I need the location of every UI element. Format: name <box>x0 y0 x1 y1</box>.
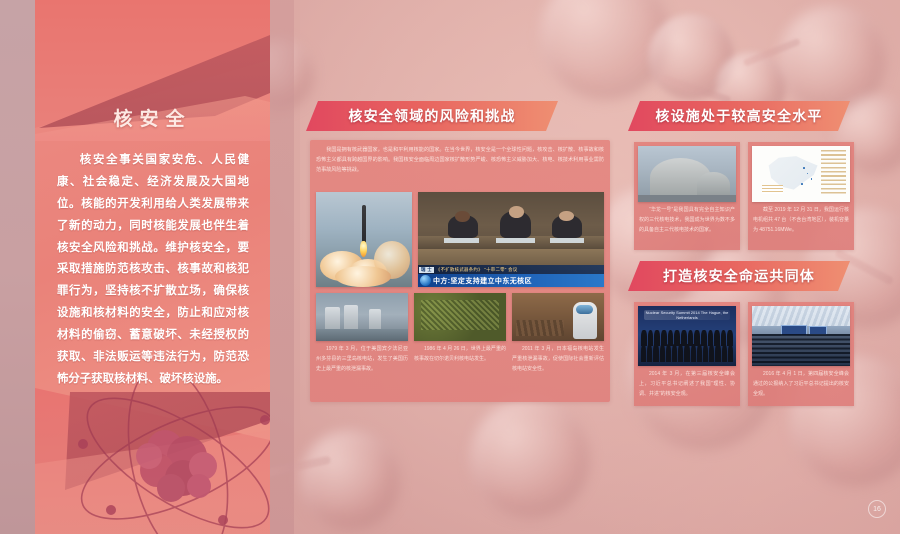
chernobyl-photo <box>414 293 506 341</box>
fukushima-photo <box>512 293 604 341</box>
nuclear-security-summit-2014-photo: Nuclear Security Summit 2014 The Hague, … <box>638 306 736 366</box>
nuclear-map-card: 截至 2019 年 12 月 31 日，我国运行核电机组共 47 台（不含台湾地… <box>748 142 854 250</box>
water <box>316 329 408 341</box>
audience-seats <box>752 334 850 366</box>
foliage <box>421 300 498 331</box>
map-legend-box <box>762 185 784 194</box>
globe-icon <box>420 275 431 286</box>
fukushima-caption: 2011 年 3 月，日本福岛核电站发生严重核泄漏事故，促使国际社会重新评估核电… <box>512 345 604 374</box>
intro-panel: 核安全 核安全事关国家安危、人民健康、社会稳定、经济发展及大国地位。核能的开发利… <box>35 0 270 534</box>
delegate-head <box>509 206 524 217</box>
tv-location-tag: 瑞 士 <box>419 267 434 273</box>
exhaust-plume <box>335 266 391 287</box>
hualong-one-card: “华龙一号”是我国具有完全自主知识产权的三代核电技术，我国成为世界为数不多的具备… <box>634 142 740 250</box>
leaders-row <box>641 330 733 346</box>
summit-2016-card: 2016 年 4 月 1 日，第四届核安全峰会通过的公报纳入了习近平总书记提出的… <box>748 302 854 406</box>
right-bottom-header-label: 打造核安全命运共同体 <box>663 266 815 286</box>
hualong-one-caption: “华龙一号”是我国具有完全自主知识产权的三代核电技术，我国成为世界为数不多的具备… <box>639 206 735 235</box>
missile-launch-photo <box>316 192 412 287</box>
right-top-header-label: 核设施处于较高安全水平 <box>655 106 822 126</box>
respirator-visor <box>576 305 593 315</box>
panel-divider <box>270 0 294 534</box>
rubble <box>516 320 564 336</box>
atom-nucleus-icon <box>53 378 270 534</box>
tv-headline-text: 中方:坚定支持建立中东无核区 <box>433 276 532 286</box>
summit-banner: Nuclear Security Summit 2014 The Hague, … <box>644 310 730 320</box>
summit-2014-card: Nuclear Security Summit 2014 The Hague, … <box>634 302 740 406</box>
center-section-header: 核安全领域的风险和挑战 <box>306 101 558 131</box>
tv-headline-bar: 中方:坚定支持建立中东无核区 <box>418 274 604 287</box>
nuclear-map-caption: 截至 2019 年 12 月 31 日，我国运行核电机组共 47 台（不含台湾地… <box>753 206 849 235</box>
leaders-row <box>641 344 733 362</box>
right-bottom-section-header: 打造核安全命运共同体 <box>628 261 850 291</box>
hazmat-worker <box>573 302 597 339</box>
npt-conference-photo: 瑞 士 《不扩散核武器条约》 “十审二零” 会议 中方:坚定支持建立中东无核区 <box>418 192 604 287</box>
cooling-tower <box>325 307 340 329</box>
map-legend-list <box>821 150 846 195</box>
tv-subtitle-text: 《不扩散核武器条约》 “十审二零” 会议 <box>436 267 518 273</box>
cooling-tower <box>344 305 359 329</box>
nuclear-security-summit-2016-photo <box>752 306 850 366</box>
page-number-badge: 16 <box>868 500 886 518</box>
name-plate <box>444 238 479 244</box>
hall-ceiling <box>752 306 850 326</box>
summit-2016-caption: 2016 年 4 月 1 日，第四届核安全峰会通过的公报纳入了习近平总书记提出的… <box>753 370 849 399</box>
summit-2014-caption: 2014 年 3 月，在第三届核安全峰会上，习近平总书记阐述了我国“理性、协调、… <box>639 370 735 399</box>
missile-body <box>362 205 366 243</box>
page-title: 核安全 <box>35 104 270 131</box>
three-mile-island-caption: 1979 年 3 月，位于美国宾夕法尼亚州多芬县的三里岛核电站，发生了美国历史上… <box>316 345 408 374</box>
chernobyl-caption: 1986 年 4 月 26 日，世界上最严重的核事故在切尔诺贝利核电站发生。 <box>414 345 506 365</box>
three-mile-island-photo <box>316 293 408 341</box>
plant-marker <box>803 167 805 169</box>
molecule-bubble <box>470 398 590 518</box>
nuclear-plant-photo <box>638 146 736 202</box>
intro-paragraph: 核安全事关国家安危、人民健康、社会稳定、经济发展及大国地位。核能的开发利用给人类… <box>57 150 249 391</box>
cooling-tower <box>369 309 381 329</box>
left-edge-strip <box>0 0 35 534</box>
center-content-block: 我国是拥有核武器国家，也是和平利用核能的国家。在当今世界，核安全是一个全球性问题… <box>310 140 610 402</box>
center-header-label: 核安全领域的风险和挑战 <box>348 106 515 126</box>
molecule-bubble <box>300 430 400 530</box>
center-intro-text: 我国是拥有核武器国家，也是和平利用核能的国家。在当今世界，核安全是一个全球性问题… <box>316 146 604 176</box>
name-plate <box>550 238 583 244</box>
name-plate <box>496 238 535 244</box>
right-top-section-header: 核设施处于较高安全水平 <box>628 101 850 131</box>
poster-canvas: 核安全 核安全事关国家安危、人民健康、社会稳定、经济发展及大国地位。核能的开发利… <box>0 0 900 534</box>
china-nuclear-map <box>752 146 850 202</box>
plant-marker <box>801 183 803 185</box>
ground <box>638 195 736 202</box>
tv-subtitle-bar: 瑞 士 《不扩散核武器条约》 “十审二零” 会议 <box>418 265 604 274</box>
